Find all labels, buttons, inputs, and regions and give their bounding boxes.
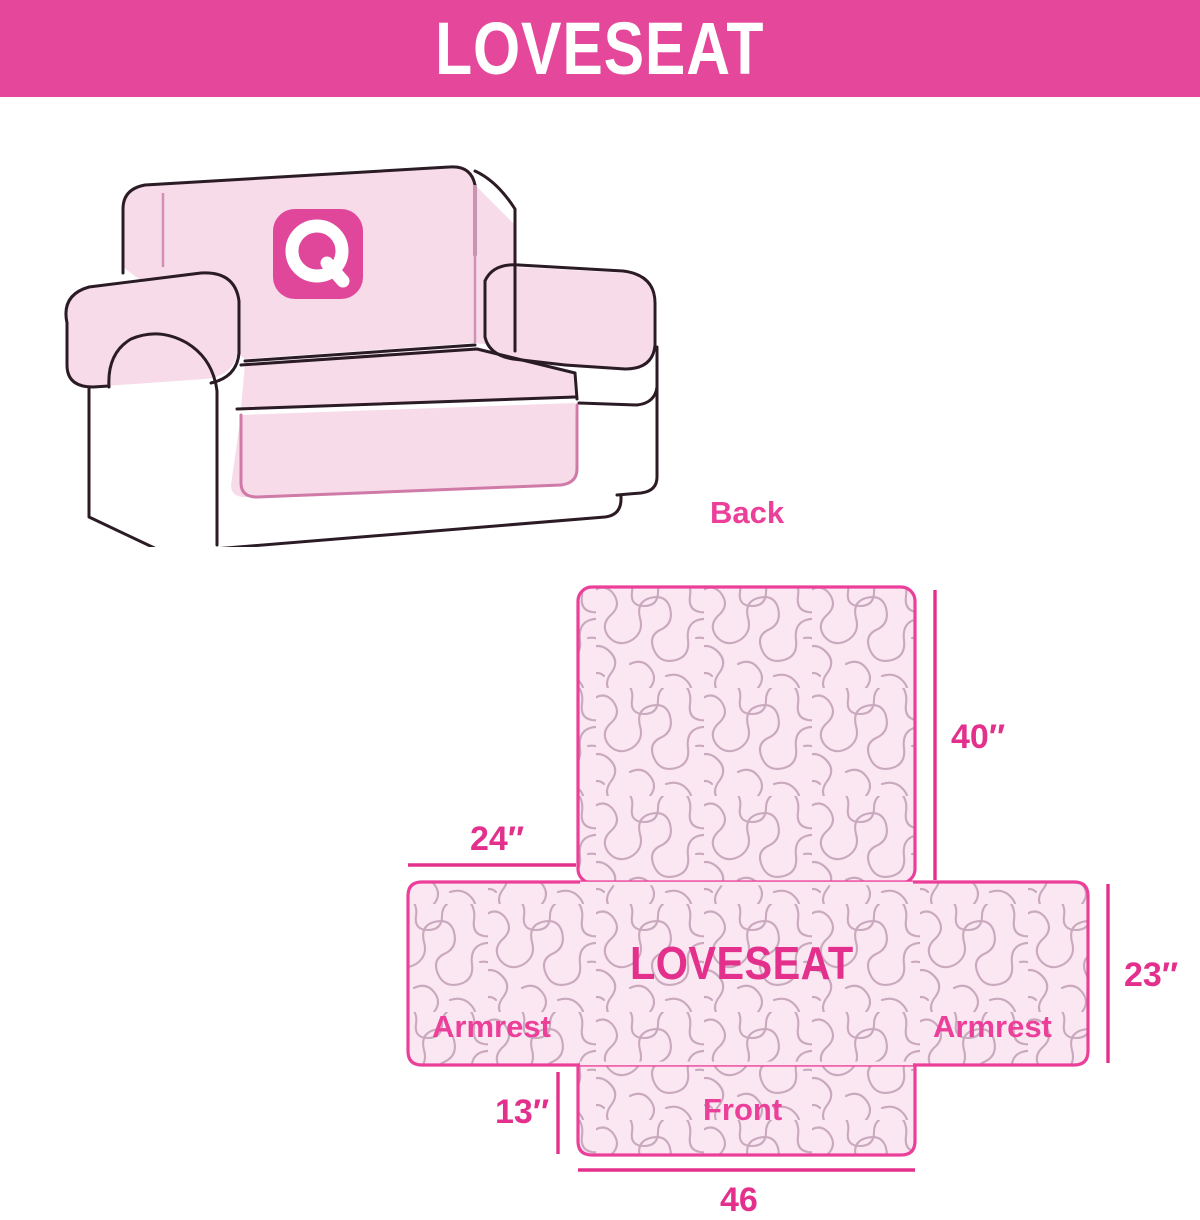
- dimension-label-armrest-height: 23″: [1124, 956, 1178, 995]
- cover-dimension-diagram: Back Armrest Armrest Front LOVESEAT 40″ …: [380, 472, 1200, 1200]
- panel-label-back: Back: [710, 495, 784, 531]
- panel-label-armrest-right: Armrest: [933, 1009, 1052, 1045]
- panel-label-armrest-left: Armrest: [432, 1009, 551, 1045]
- dimension-label-front-drop: 13″: [495, 1093, 549, 1132]
- cover-center-title: LOVESEAT: [630, 936, 854, 990]
- dimension-label-front-width: 46: [720, 1181, 758, 1220]
- content-stage: Back Armrest Armrest Front LOVESEAT 40″ …: [0, 97, 1200, 1200]
- q-logo-badge: [273, 209, 363, 299]
- dimension-label-armrest-depth: 24″: [470, 820, 524, 859]
- panel-label-front: Front: [703, 1092, 782, 1128]
- dimension-label-back-height: 40″: [951, 718, 1005, 757]
- panel-back: [578, 587, 915, 883]
- page-title: LOVESEAT: [435, 12, 764, 86]
- header-banner: LOVESEAT: [0, 0, 1200, 97]
